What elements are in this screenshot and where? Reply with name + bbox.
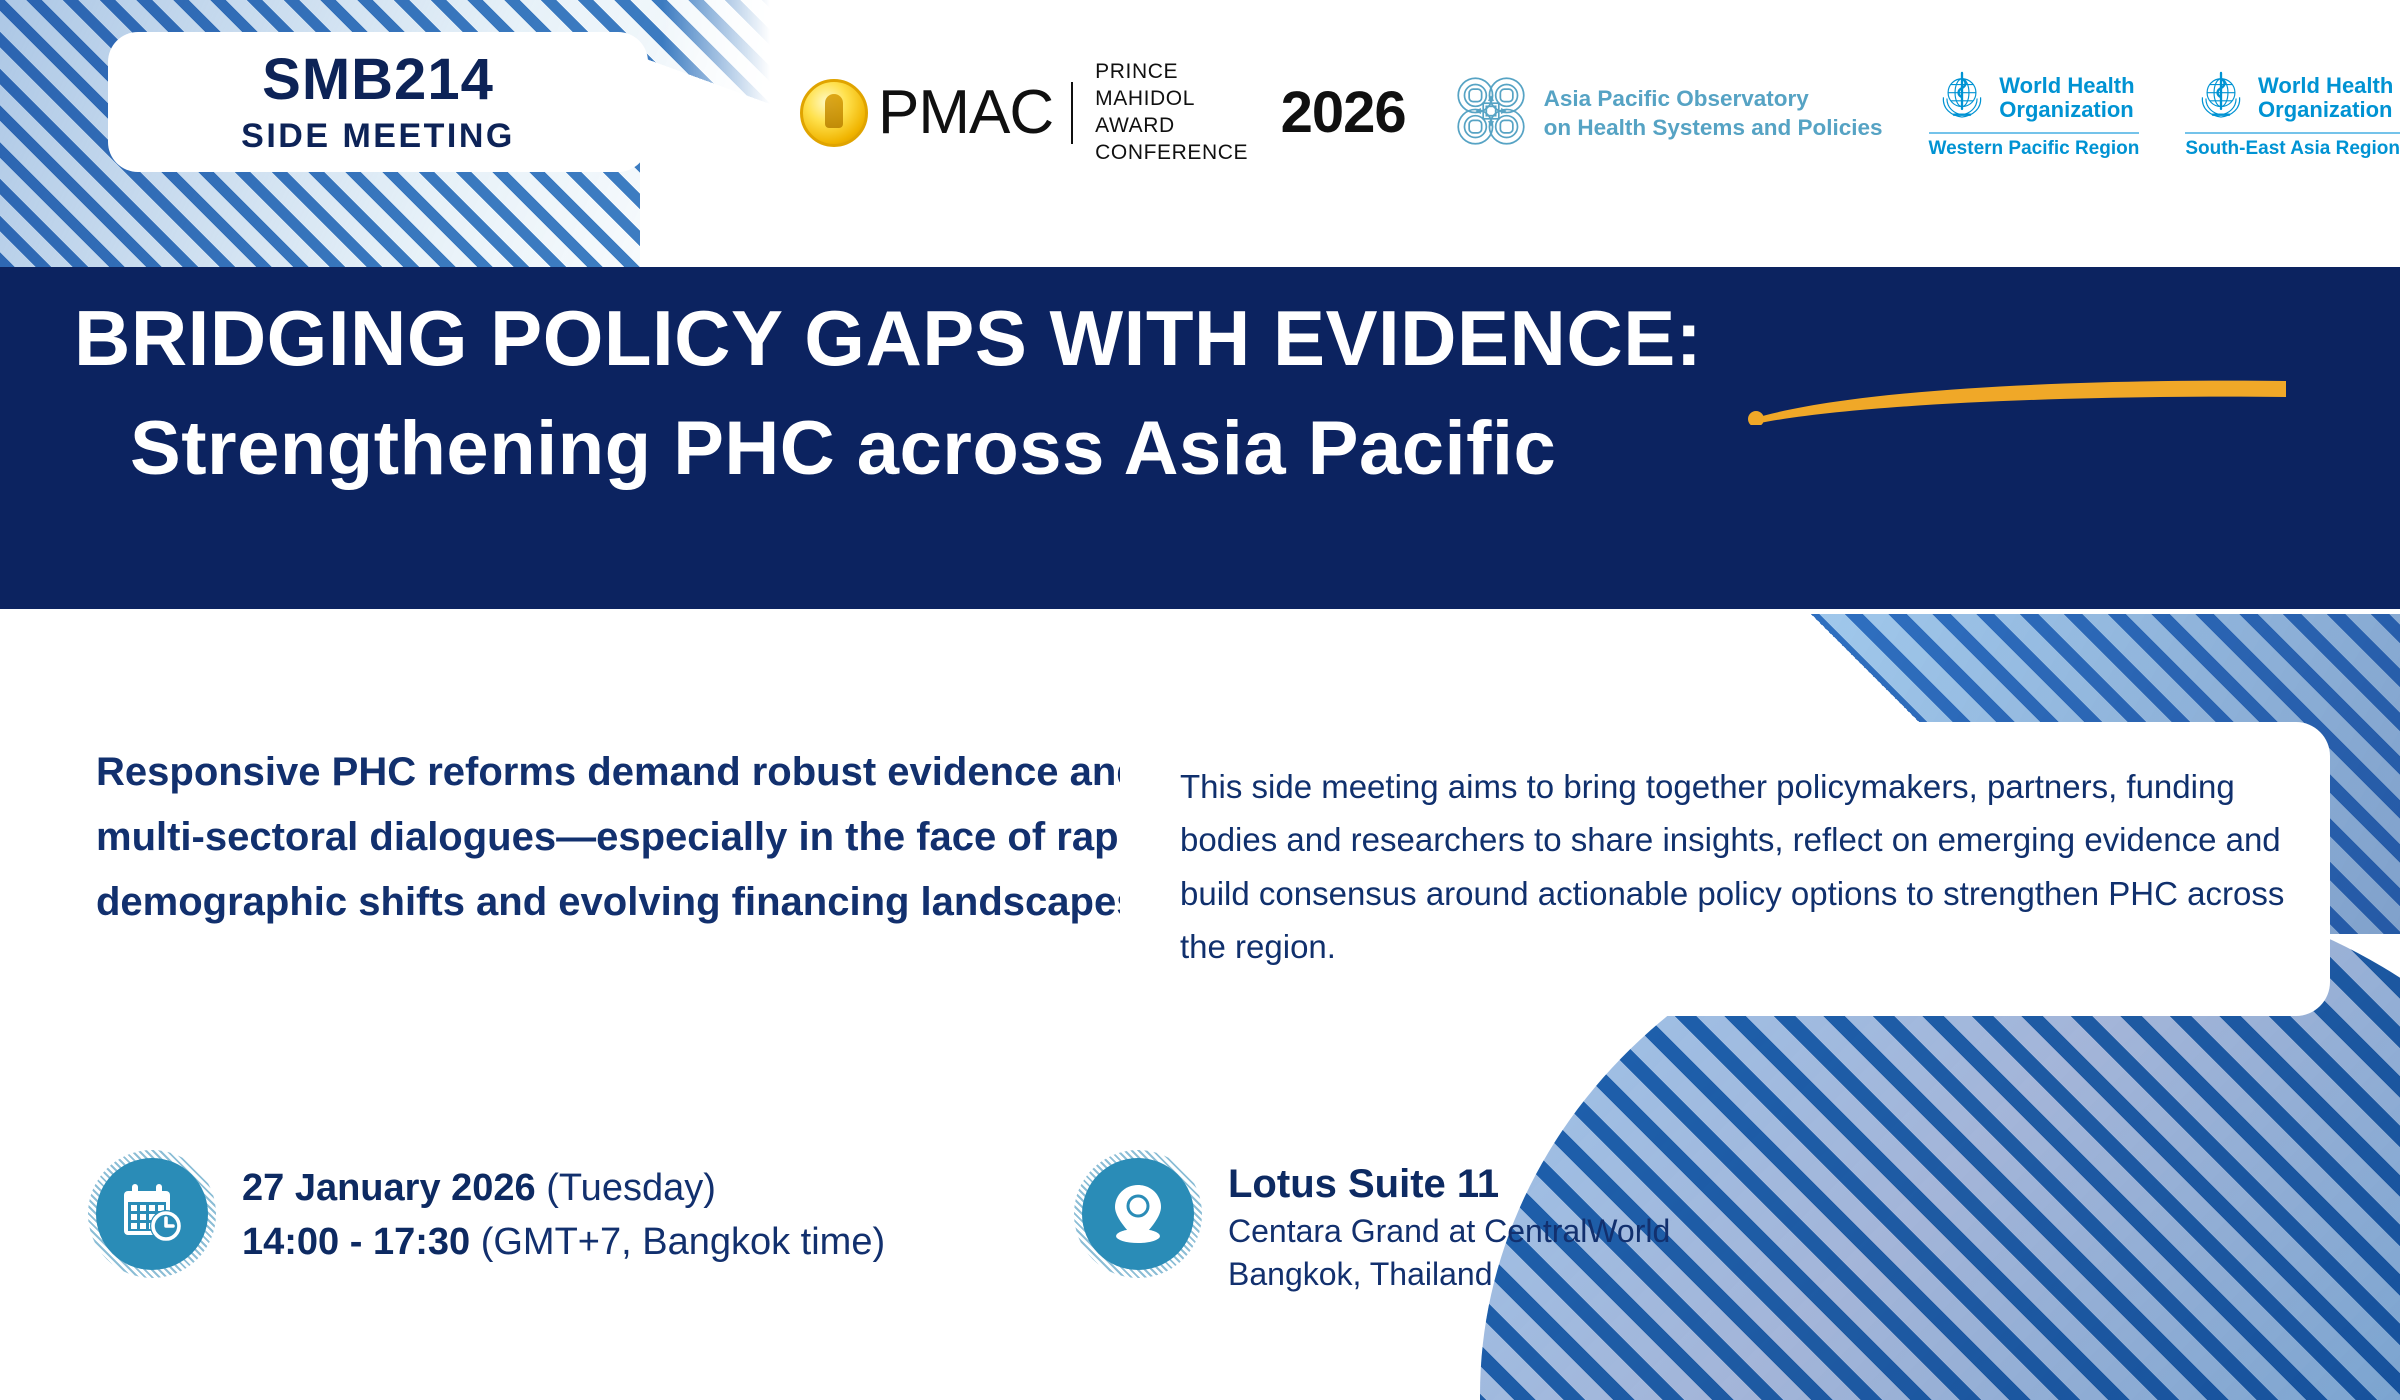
who-wpro-logo: World Health Organization Western Pacifi… [1929, 66, 2140, 160]
pmac-logo: PMAC PRINCE MAHIDOL AWARD CONFERENCE 202… [800, 59, 1406, 167]
venue-block: Lotus Suite 11 Centara Grand at CentralW… [1082, 1158, 1670, 1296]
apo-logo: Asia Pacific Observatory on Health Syste… [1452, 72, 1883, 155]
pmac-full-name-line2: AWARD CONFERENCE [1095, 113, 1254, 167]
title-line-2: Strengthening PHC across Asia Pacific [130, 405, 1556, 492]
who-searo-name: World Health Organization [2258, 74, 2393, 122]
who-emblem-icon [2192, 66, 2250, 129]
side-meeting-badge: SMB214 SIDE MEETING [108, 32, 648, 172]
meeting-time: 14:00 - 17:30 [242, 1221, 470, 1263]
title-banner: BRIDGING POLICY GAPS WITH EVIDENCE: Stre… [0, 267, 2400, 609]
pmac-divider [1071, 82, 1073, 144]
meeting-day: (Tuesday) [536, 1167, 716, 1209]
meeting-time-line: 14:00 - 17:30 (GMT+7, Bangkok time) [242, 1216, 885, 1270]
apo-name-line2: on Health Systems and Policies [1544, 113, 1883, 142]
pmac-full-name: PRINCE MAHIDOL AWARD CONFERENCE [1095, 59, 1254, 167]
who-wpro-name-line1: World Health [1999, 74, 2134, 98]
pmac-year: 2026 [1281, 84, 1406, 142]
meeting-date-line: 27 January 2026 (Tuesday) [242, 1162, 885, 1216]
who-searo-main: World Health Organization [2192, 66, 2393, 129]
apo-name-line1: Asia Pacific Observatory [1544, 84, 1883, 113]
lead-statement: Responsive PHC reforms demand robust evi… [96, 740, 1156, 934]
venue-name: Centara Grand at CentralWorld [1228, 1210, 1670, 1253]
who-emblem-icon [1933, 66, 1991, 129]
pmac-wordmark: PMAC [878, 82, 1053, 144]
venue-city: Bangkok, Thailand [1228, 1253, 1670, 1296]
calendar-clock-icon [96, 1158, 208, 1270]
side-meeting-label: SIDE MEETING [241, 119, 515, 153]
meeting-timezone: (GMT+7, Bangkok time) [470, 1221, 885, 1263]
who-wpro-region: Western Pacific Region [1929, 132, 2140, 160]
meeting-date: 27 January 2026 [242, 1167, 536, 1209]
who-searo-name-line1: World Health [2258, 74, 2393, 98]
date-time-text: 27 January 2026 (Tuesday) 14:00 - 17:30 … [242, 1158, 885, 1270]
side-meeting-poster: SMB214 SIDE MEETING PMAC PRINCE MAHIDOL … [0, 0, 2400, 1400]
description-card: This side meeting aims to bring together… [1120, 722, 2330, 1016]
who-wpro-main: World Health Organization [1933, 66, 2134, 129]
map-pin-icon [1082, 1158, 1194, 1270]
who-wpro-name: World Health Organization [1999, 74, 2134, 122]
venue-text: Lotus Suite 11 Centara Grand at CentralW… [1228, 1158, 1670, 1296]
apo-name: Asia Pacific Observatory on Health Syste… [1544, 84, 1883, 143]
pmac-medallion-icon [800, 79, 868, 147]
date-time-block: 27 January 2026 (Tuesday) 14:00 - 17:30 … [96, 1158, 885, 1270]
who-searo-name-line2: Organization [2258, 98, 2393, 122]
pmac-full-name-line1: PRINCE MAHIDOL [1095, 59, 1254, 113]
side-meeting-code: SMB214 [262, 51, 494, 109]
evidence-underline-swoosh-icon [1744, 379, 2290, 425]
who-wpro-name-line2: Organization [1999, 98, 2134, 122]
calendar-icon-disc [96, 1158, 208, 1270]
description-text: This side meeting aims to bring together… [1180, 760, 2286, 974]
who-searo-region: South-East Asia Region [2185, 132, 2400, 160]
map-pin-icon-disc [1082, 1158, 1194, 1270]
who-searo-logo: World Health Organization South-East Asi… [2185, 66, 2400, 160]
apo-interlace-icon [1452, 72, 1530, 155]
logo-row: PMAC PRINCE MAHIDOL AWARD CONFERENCE 202… [800, 48, 2400, 178]
venue-room: Lotus Suite 11 [1228, 1158, 1670, 1210]
title-line-1: BRIDGING POLICY GAPS WITH EVIDENCE: [74, 293, 1702, 384]
